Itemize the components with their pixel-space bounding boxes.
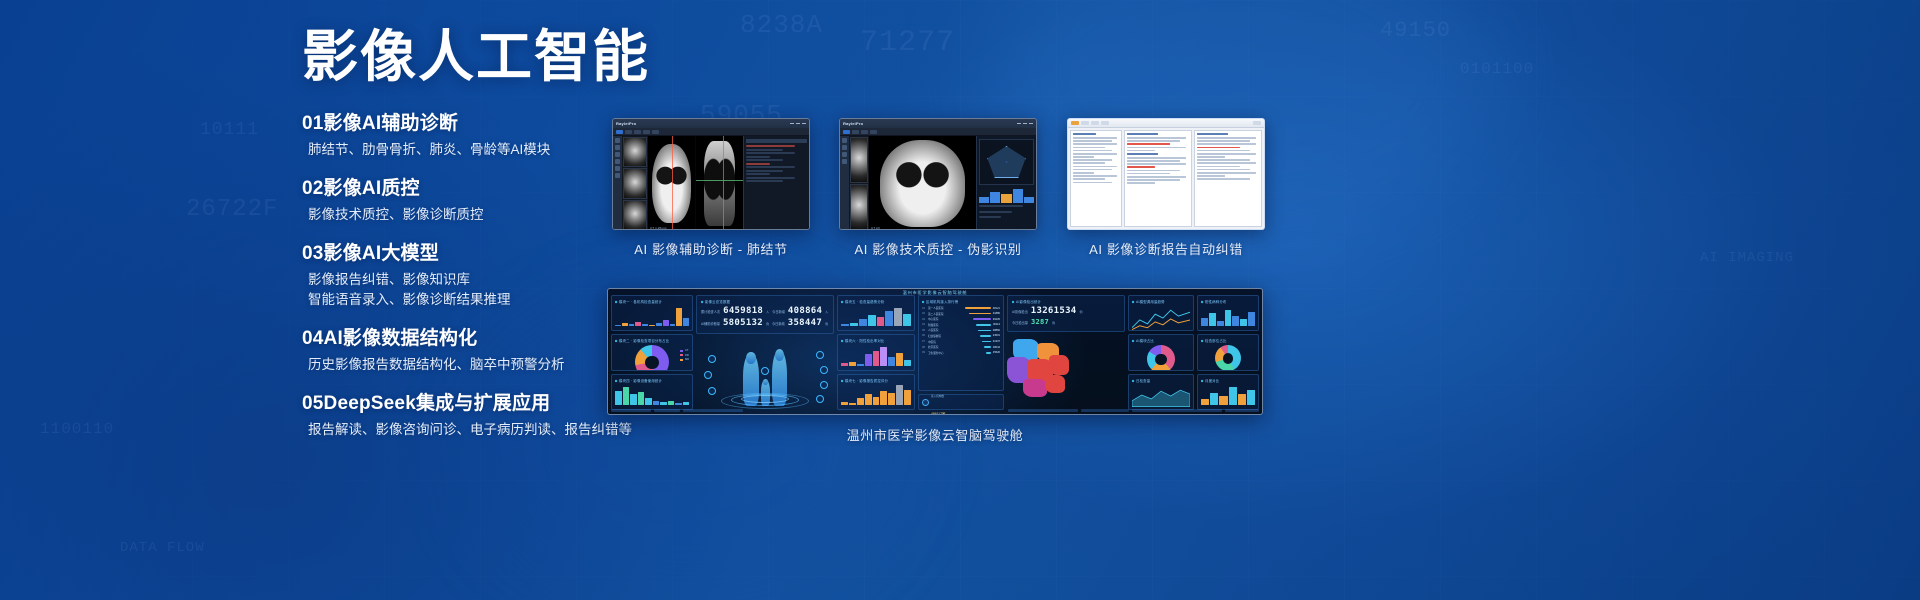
- bar: [676, 308, 682, 326]
- toolbar-chip-3[interactable]: [634, 130, 641, 134]
- panel-bullet-icon: [841, 340, 843, 343]
- qc-info-row: [979, 211, 1012, 213]
- report-text-line: [1127, 170, 1180, 172]
- footer-chip: [683, 409, 743, 412]
- bar-chart-device-usage: [615, 385, 689, 405]
- worklist-row[interactable]: [1073, 150, 1112, 152]
- ct-axial-image: [880, 140, 966, 227]
- rank-index: 02: [922, 312, 926, 315]
- feature-item-01[interactable]: 01影像AI辅助诊断 肺结节、肋骨骨折、肺炎、骨龄等AI模块: [302, 111, 632, 161]
- rank-value: 15620: [993, 351, 1000, 354]
- suggestion-line: [1197, 162, 1256, 164]
- toolbar-chip-4[interactable]: [643, 130, 650, 134]
- panel-bullet-icon: [1201, 379, 1203, 382]
- node-icon-center: [761, 367, 769, 375]
- worklist-row[interactable]: [1073, 175, 1117, 177]
- screenshot-frame-qc[interactable]: RayleiPro: [839, 118, 1037, 230]
- qc-bar: [990, 192, 1000, 203]
- feature-item-04[interactable]: 04AI影像数据结构化 历史影像报告数据结构化、脑卒中预警分析: [302, 326, 632, 376]
- bar: [873, 351, 880, 366]
- kpi-label: 今日新增: [772, 321, 785, 326]
- rank-bar: [978, 330, 991, 332]
- line-chart-ai-calls: [1132, 306, 1190, 331]
- node-icon-6: [820, 381, 828, 389]
- finding-row[interactable]: [746, 180, 783, 182]
- qc-radar-polygon: [987, 146, 1025, 178]
- panel-title-text: 模块二 · 影像检查项目分布占比: [619, 339, 669, 343]
- figure-head: [763, 379, 768, 385]
- report-text-pane[interactable]: [1124, 130, 1192, 227]
- screenshot-frame-report[interactable]: [1067, 118, 1265, 230]
- bar: [660, 402, 667, 405]
- panel-title: 模块四 · 影像设备使用统计: [615, 378, 689, 383]
- dashboard-footer: [611, 408, 1259, 413]
- pan-tool-icon[interactable]: [842, 138, 847, 143]
- panel-bullet-icon: [1132, 379, 1134, 382]
- finding-row[interactable]: [746, 173, 770, 175]
- map-region-southeast[interactable]: [1045, 375, 1065, 393]
- worklist-header: [1073, 133, 1096, 135]
- panel-right-bars[interactable]: 阳性病种分布: [1197, 295, 1259, 331]
- rank-bar: [973, 318, 991, 320]
- ranking-row[interactable]: 08社区医院18044: [922, 345, 1000, 349]
- bar: [888, 357, 895, 366]
- bar: [857, 364, 864, 366]
- panel-title-text: 月度对比: [1205, 379, 1219, 383]
- bar-chart-qc-score: [841, 385, 911, 405]
- series-thumbnail-list[interactable]: [849, 136, 869, 230]
- panel-exam-distribution[interactable]: 模块二 · 影像检查项目分布占比 CT DR MR: [611, 334, 693, 370]
- ct-coronal-image: [704, 141, 736, 227]
- viewport-coronal[interactable]: [696, 136, 743, 230]
- figure-head: [746, 352, 756, 363]
- suggestion-line: [1197, 159, 1250, 161]
- toolbar-pacs[interactable]: [613, 128, 809, 136]
- worklist-row[interactable]: [1073, 169, 1112, 171]
- bar: [904, 390, 911, 405]
- settings-gear-icon[interactable]: [1253, 121, 1261, 125]
- map-region-east[interactable]: [1049, 355, 1069, 375]
- ranking-row[interactable]: 03中心医院36205: [922, 317, 1000, 321]
- suggestion-line: [1197, 166, 1240, 168]
- suggestion-line: [1197, 150, 1250, 152]
- report-error-highlight: [1127, 166, 1155, 168]
- node-icon-1: [708, 355, 716, 363]
- suggestion-line: [1197, 169, 1250, 171]
- bg-code-9: DATA FLOW: [120, 540, 205, 556]
- report-text-line: [1127, 150, 1155, 152]
- rank-bar: [980, 335, 991, 337]
- legend-swatch: [680, 354, 683, 356]
- panel-institution-volume[interactable]: 模块一 · 各机构检查量统计: [611, 295, 693, 331]
- worklist-row[interactable]: [1073, 137, 1117, 139]
- bar: [622, 323, 628, 326]
- bar: [1210, 393, 1218, 405]
- panel-pie-ai-modules[interactable]: AI模块占比: [1128, 334, 1194, 370]
- kpi-detection-box: AI影像检出统计 AI影像检出 13261534 例 今日检出量 3287 例: [1007, 295, 1125, 332]
- worklist-row[interactable]: [1073, 140, 1112, 142]
- legend-label: DR: [685, 354, 689, 357]
- panel-bullet-icon: [841, 301, 843, 304]
- node-icon-4: [816, 351, 824, 359]
- tool-rail[interactable]: [840, 136, 849, 230]
- report-text-line: [1127, 163, 1186, 165]
- legend-swatch: [680, 359, 683, 361]
- panel-ai-call-trend[interactable]: AI模型调用量趋势: [1128, 295, 1194, 331]
- panel-title-text: 日检查量: [1136, 379, 1150, 383]
- bar: [894, 308, 902, 327]
- rank-bar: [984, 346, 991, 348]
- panel-mini-area[interactable]: 日检查量: [1128, 374, 1194, 410]
- finding-row[interactable]: [746, 159, 783, 161]
- screenshot-card-qc[interactable]: RayleiPro: [839, 118, 1037, 258]
- bar-chart-trend: [841, 306, 911, 326]
- report-text-line: [1127, 173, 1170, 175]
- report-text-line: [1127, 179, 1180, 181]
- ranking-row[interactable]: 09卫生服务中心15620: [922, 351, 1000, 355]
- series-thumbnail[interactable]: [850, 184, 868, 230]
- bar: [683, 402, 690, 405]
- footer-chip: [1008, 409, 1078, 412]
- suggestion-line: [1197, 153, 1256, 155]
- suggestion-line: [1197, 178, 1250, 180]
- hologram-ring-inner: [741, 395, 789, 403]
- bar: [896, 385, 903, 405]
- measure-tool-icon[interactable]: [842, 152, 847, 157]
- worklist-row[interactable]: [1073, 162, 1105, 164]
- viewport-tag: CT AX: [871, 226, 880, 230]
- feature-desc-03: 影像报告纠错、影像知识库 智能语音录入、影像诊断结果推理: [308, 270, 632, 311]
- bar: [841, 324, 849, 326]
- footer-chip: [1081, 409, 1129, 412]
- feature-column: 影像人工智能 01影像AI辅助诊断 肺结节、肋骨骨折、肺炎、骨龄等AI模块 02…: [302, 26, 632, 455]
- region-map[interactable]: [1007, 335, 1125, 410]
- rank-name: 社区医院: [928, 345, 982, 349]
- ranking-row[interactable]: 02第二人民医院41880: [922, 312, 1000, 316]
- bar: [859, 319, 867, 327]
- bar: [865, 354, 872, 365]
- toolbar-chip-2[interactable]: [852, 130, 859, 134]
- bar: [663, 320, 669, 326]
- worklist-row[interactable]: [1073, 156, 1094, 158]
- search-icon[interactable]: [1091, 121, 1099, 125]
- screenshot-card-report[interactable]: AI 影像诊断报告自动纠错: [1067, 118, 1265, 258]
- report-text-line: [1127, 147, 1186, 149]
- bar: [868, 315, 876, 327]
- bar: [638, 392, 645, 405]
- correction-suggestion-pane[interactable]: [1194, 130, 1262, 227]
- panel-title-text: 模块四 · 影像设备使用统计: [619, 379, 662, 383]
- kpi-unit: 例: [1052, 321, 1055, 325]
- dashboard-caption: 温州市医学影像云智脑驾驶舱: [607, 425, 1263, 444]
- ranking-row[interactable]: 04附属医院30114: [922, 323, 1000, 327]
- suggestion-line: [1197, 137, 1256, 139]
- rank-index: 07: [922, 340, 926, 343]
- ranking-row[interactable]: 07中医院21337: [922, 340, 1000, 344]
- node-icon-7: [816, 395, 824, 403]
- worklist-row[interactable]: [1073, 172, 1094, 174]
- screenshot-card-pacs[interactable]: RayleiPro: [612, 118, 810, 258]
- panel-right-bars-2[interactable]: 月度对比: [1197, 374, 1259, 410]
- bar: [1201, 399, 1209, 405]
- finding-row[interactable]: [746, 166, 795, 168]
- kpi-box-title-text: AI影像检出统计: [1016, 300, 1041, 304]
- zoom-tool-icon[interactable]: [842, 145, 847, 150]
- window-level-icon[interactable]: [842, 159, 847, 164]
- bar: [629, 324, 635, 326]
- kpi-value: 5805132: [723, 318, 763, 328]
- zoom-tool-icon[interactable]: [615, 145, 620, 150]
- dashboard-card[interactable]: 温州市医学影像云智脑驾驶舱 模块一 · 各机构检查量统计: [607, 288, 1263, 444]
- rank-index: 01: [922, 307, 926, 310]
- report-text-line: [1127, 182, 1155, 184]
- ranking-row[interactable]: 05人民医院28860: [922, 328, 1000, 332]
- kpi-label: 累计检查人次: [701, 309, 720, 314]
- panel-title-text: 模块一 · 各机构检查量统计: [619, 300, 662, 304]
- worklist-row[interactable]: [1073, 178, 1105, 180]
- layout-tool-icon[interactable]: [615, 173, 620, 178]
- finding-row[interactable]: [746, 152, 795, 154]
- bar: [1225, 310, 1232, 327]
- report-toolbar[interactable]: [1068, 119, 1264, 128]
- kpi-value: 358447: [788, 318, 822, 328]
- panel-title-text: 检查部位占比: [1205, 339, 1227, 343]
- report-app: [1068, 119, 1264, 229]
- panel-bullet-icon: [615, 301, 617, 304]
- screenshot-caption-pacs: AI 影像辅助诊断 - 肺结节: [612, 239, 810, 258]
- panel-bullet-icon: [841, 379, 843, 382]
- rank-bar: [986, 352, 991, 354]
- finding-row[interactable]: [746, 163, 770, 165]
- rank-bar: [982, 341, 991, 343]
- series-thumbnail[interactable]: [623, 200, 647, 230]
- ranking-row[interactable]: 06妇幼保健院24501: [922, 334, 1000, 338]
- rank-name: 卫生服务中心: [928, 351, 984, 355]
- toolbar-qc[interactable]: [840, 128, 1036, 136]
- bg-code-5: 10111: [200, 120, 259, 140]
- panel-bullet-icon: [701, 301, 703, 304]
- kpi-label: AI辅助诊断量: [701, 321, 720, 326]
- panel-report-qc-score[interactable]: 模块七 · 影像报告质控评分: [837, 374, 915, 410]
- panel-institution-ranking[interactable]: 区域机构接入排行榜 01第一人民医院48121 02第二人民医院41880 03…: [918, 295, 1004, 391]
- suggestion-line: [1197, 156, 1225, 158]
- minimize-icon[interactable]: [790, 123, 794, 125]
- kpi-unit: 例: [1080, 310, 1083, 314]
- bar: [642, 324, 648, 326]
- panel-title: 日检查量: [1132, 378, 1190, 383]
- maximize-icon[interactable]: [796, 123, 800, 125]
- toolbar-chip-1[interactable]: [843, 130, 850, 134]
- toolbar-chip-1[interactable]: [616, 130, 623, 134]
- bar: [649, 325, 655, 327]
- viewport-tag: CT 1.25mm: [650, 226, 667, 230]
- bar: [623, 387, 630, 405]
- bar: [880, 347, 887, 366]
- worklist-row[interactable]: [1073, 147, 1105, 149]
- bar: [683, 318, 689, 326]
- finding-row[interactable]: [746, 177, 795, 179]
- finding-row[interactable]: [746, 145, 795, 147]
- kpi-row-1: 累计检查人次 6459818 人 今日新增 408864 人: [701, 306, 829, 316]
- rank-value: 36205: [993, 318, 1000, 321]
- window-level-icon[interactable]: [615, 159, 620, 164]
- export-button[interactable]: [1101, 121, 1109, 125]
- maximize-icon[interactable]: [1023, 123, 1027, 125]
- bar: [880, 391, 887, 405]
- series-thumbnail-list[interactable]: [622, 136, 648, 230]
- qc-viewport-group[interactable]: CT AX: [869, 136, 976, 230]
- pan-tool-icon[interactable]: [615, 138, 620, 143]
- tool-rail[interactable]: [613, 136, 622, 230]
- kpi-box-title: AI影像检出统计: [1012, 299, 1120, 304]
- qc-metrics-panel[interactable]: [976, 136, 1036, 230]
- feature-desc-01: 肺结节、肋骨骨折、肺炎、骨龄等AI模块: [308, 140, 632, 160]
- toolbar-chip-3[interactable]: [861, 130, 868, 134]
- kpi-unit: 例: [766, 322, 769, 326]
- bar: [857, 398, 864, 405]
- close-icon[interactable]: [802, 123, 806, 125]
- kpi-box-title: 影像云总览数据: [701, 299, 829, 304]
- finding-row[interactable]: [746, 170, 783, 172]
- panel-trend-analysis[interactable]: 模块五 · 检查量趋势分析: [837, 295, 915, 331]
- ranking-row[interactable]: 01第一人民医院48121: [922, 306, 1000, 310]
- panel-device-usage[interactable]: 模块四 · 影像设备使用统计: [611, 374, 693, 410]
- bar: [865, 394, 872, 405]
- panel-title: 区域机构接入排行榜: [922, 299, 1000, 304]
- panel-bullet-icon: [1132, 340, 1134, 343]
- image-viewport-group[interactable]: CT 1.25mm: [648, 136, 743, 230]
- panel-title: 模块五 · 检查量趋势分析: [841, 299, 911, 304]
- panel-positive-rate[interactable]: 模块六 · 阳性检出率对比: [837, 334, 915, 370]
- dashboard-frame[interactable]: 温州市医学影像云智脑驾驶舱 模块一 · 各机构检查量统计: [607, 288, 1263, 415]
- dashboard-column-6: AI模型调用量趋势 AI模块占比: [1128, 295, 1194, 410]
- bar: [615, 391, 622, 405]
- panel-right-donut[interactable]: 检查部位占比: [1197, 334, 1259, 370]
- donut-legend: CT DR MR: [680, 349, 689, 363]
- bg-code-1: 71277: [860, 26, 955, 60]
- kpi-row-detect-today: 今日检出量 3287 例: [1012, 318, 1120, 326]
- kpi-row-2: AI辅助诊断量 5805132 例 今日新增 358447 例: [701, 318, 829, 328]
- worklist-row[interactable]: [1073, 153, 1117, 155]
- series-thumbnail[interactable]: [850, 137, 868, 183]
- bar: [1248, 312, 1255, 326]
- feature-list: 01影像AI辅助诊断 肺结节、肋骨骨折、肺炎、骨龄等AI模块 02影像AI质控 …: [302, 111, 632, 441]
- panel-title-text: 阳性病种分布: [1205, 300, 1227, 304]
- kpi-box-title-text: 影像云总览数据: [705, 300, 730, 304]
- rank-index: 09: [922, 351, 926, 354]
- feature-item-02[interactable]: 02影像AI质控 影像技术质控、影像诊断质控: [302, 176, 632, 226]
- rank-bar: [965, 307, 991, 309]
- worklist-pane[interactable]: [1070, 130, 1122, 227]
- kpi-unit: 人: [766, 310, 769, 314]
- toolbar-chip-2[interactable]: [625, 130, 632, 134]
- feature-title-01: 01影像AI辅助诊断: [302, 111, 632, 137]
- bar-chart-right-2: [1201, 385, 1255, 405]
- rank-value: 28860: [993, 329, 1000, 332]
- measure-tool-icon[interactable]: [615, 152, 620, 157]
- worklist-row[interactable]: [1073, 182, 1112, 184]
- bar: [1238, 394, 1246, 405]
- rank-name: 第二人民医院: [928, 312, 967, 316]
- save-button[interactable]: [1071, 121, 1079, 125]
- rank-bar: [969, 313, 991, 315]
- bar: [885, 311, 893, 326]
- feature-item-05[interactable]: 05DeepSeek集成与扩展应用 报告解读、影像咨询问诊、电子病历判读、报告纠…: [302, 391, 632, 441]
- hospital-icon: [922, 399, 929, 406]
- rank-name: 妇幼保健院: [928, 334, 978, 338]
- qc-bar: [979, 197, 989, 203]
- dashboard-column-1: 模块一 · 各机构检查量统计: [611, 295, 693, 410]
- screenshot-frame-pacs[interactable]: RayleiPro: [612, 118, 810, 230]
- footer-chip: [611, 409, 651, 412]
- footer-chip: [1132, 409, 1222, 412]
- print-button[interactable]: [1081, 121, 1089, 125]
- viewport-axial[interactable]: CT 1.25mm: [648, 136, 695, 230]
- panel-title: AI模块占比: [1132, 338, 1190, 343]
- qc-body: CT AX: [840, 136, 1036, 230]
- finding-row[interactable]: [746, 156, 770, 158]
- bar: [668, 401, 675, 405]
- bar: [877, 317, 885, 326]
- stat-label: 接入机构数: [931, 395, 944, 398]
- worklist-row[interactable]: [1073, 166, 1117, 168]
- dashboard-column-4: 区域机构接入排行榜 01第一人民医院48121 02第二人民医院41880 03…: [918, 295, 1004, 410]
- worklist-row[interactable]: [1073, 143, 1117, 145]
- panel-bullet-icon: [1132, 301, 1134, 304]
- bg-code-3: 26722F: [186, 196, 278, 223]
- suggestion-line: [1197, 140, 1250, 142]
- bar: [1247, 390, 1255, 405]
- crosshair-vertical-icon: [723, 136, 724, 230]
- titlebar-qc: RayleiPro: [840, 119, 1036, 128]
- kpi-value: 13261534: [1031, 306, 1077, 316]
- toolbar-chip-4[interactable]: [870, 130, 877, 134]
- panel-bullet-icon: [1201, 301, 1203, 304]
- report-text-line: [1127, 176, 1186, 178]
- ai-findings-panel[interactable]: [743, 136, 809, 230]
- kpi-value: 3287: [1031, 318, 1049, 326]
- suggestion-header: [1197, 133, 1228, 135]
- rank-index: 03: [922, 318, 926, 321]
- minimize-icon[interactable]: [1017, 123, 1021, 125]
- feature-title-02: 02影像AI质控: [302, 176, 632, 202]
- crosshair-vertical-icon: [672, 136, 673, 230]
- rank-value: 18044: [993, 346, 1000, 349]
- bar: [645, 398, 652, 405]
- feature-item-03[interactable]: 03影像AI大模型 影像报告纠错、影像知识库 智能语音录入、影像诊断结果推理: [302, 241, 632, 311]
- page-title: 影像人工智能: [302, 26, 632, 89]
- rank-name: 中医院: [928, 340, 980, 344]
- panel-title: 模块一 · 各机构检查量统计: [615, 299, 689, 304]
- map-region-south[interactable]: [1023, 379, 1047, 397]
- figure-head: [775, 349, 784, 361]
- rank-name: 第一人民医院: [928, 306, 963, 310]
- donut-chart-body-parts: [1215, 345, 1241, 370]
- rank-value: 24501: [993, 334, 1000, 337]
- qc-bar-chart: [979, 187, 1034, 203]
- finding-row[interactable]: [746, 149, 783, 151]
- worklist-row[interactable]: [1073, 159, 1112, 161]
- series-thumbnail[interactable]: [623, 168, 647, 198]
- toolbar-chip-5[interactable]: [652, 130, 659, 134]
- viewport-axial-qc[interactable]: CT AX: [869, 136, 976, 230]
- close-icon[interactable]: [1029, 123, 1033, 125]
- series-thumbnail[interactable]: [623, 137, 647, 167]
- annotate-tool-icon[interactable]: [615, 166, 620, 171]
- footer-chip: [1225, 409, 1259, 412]
- donut-chart-exam-distribution: [635, 345, 669, 370]
- panel-bullet-icon: [1012, 301, 1014, 304]
